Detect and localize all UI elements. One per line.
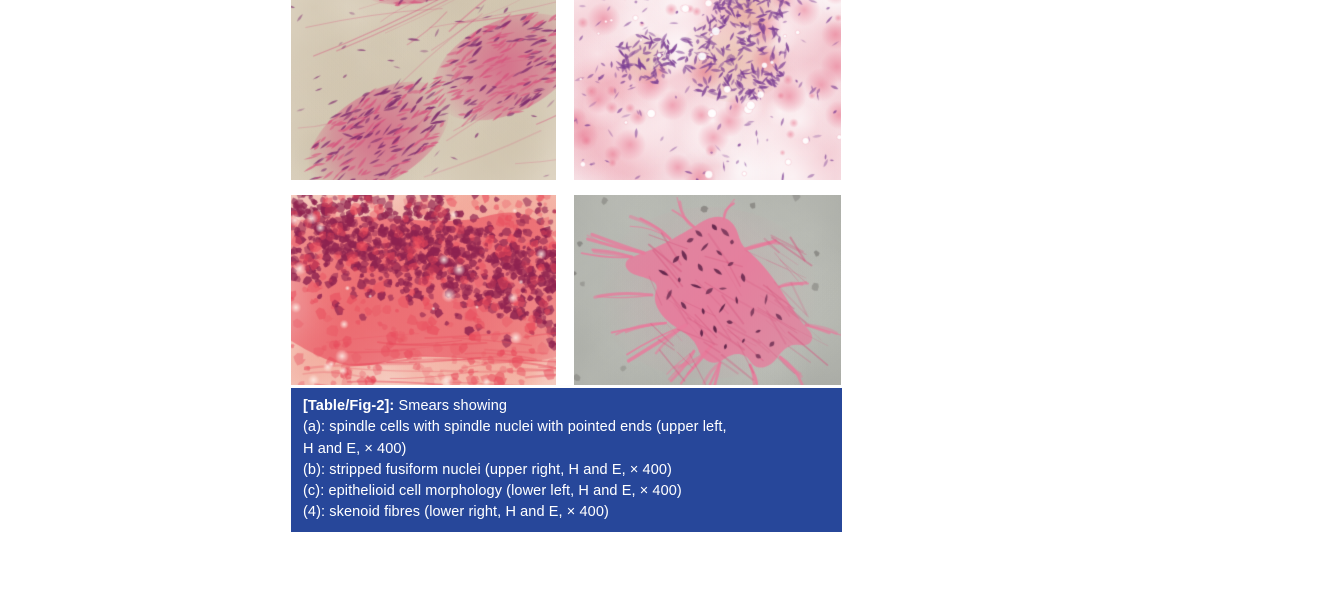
figure-caption-lead: Smears showing <box>394 398 507 414</box>
figure-image-grid <box>291 0 842 385</box>
figure-caption-line-3: (b): stripped fusiform nuclei (upper rig… <box>303 460 830 481</box>
micrograph-canvas-a <box>291 0 556 180</box>
figure-caption-line-5: (4): skenoid fibres (lower right, H and … <box>303 502 830 523</box>
micrograph-panel-b <box>574 0 841 180</box>
micrograph-canvas-c <box>291 195 556 385</box>
figure-caption-line-2: H and E, × 400) <box>303 439 830 460</box>
micrograph-panel-a <box>291 0 556 180</box>
figure-caption-box: [Table/Fig-2]: Smears showing (a): spind… <box>291 388 842 532</box>
figure-caption-line-1: (a): spindle cells with spindle nuclei w… <box>303 417 830 438</box>
micrograph-canvas-4 <box>574 195 841 385</box>
figure-caption-label: [Table/Fig-2]: <box>303 398 394 414</box>
micrograph-panel-4 <box>574 195 841 385</box>
figure-caption-text: [Table/Fig-2]: Smears showing (a): spind… <box>303 396 830 524</box>
micrograph-canvas-b <box>574 0 841 180</box>
micrograph-panel-c <box>291 195 556 385</box>
figure-caption-line-4: (c): epithelioid cell morphology (lower … <box>303 481 830 502</box>
